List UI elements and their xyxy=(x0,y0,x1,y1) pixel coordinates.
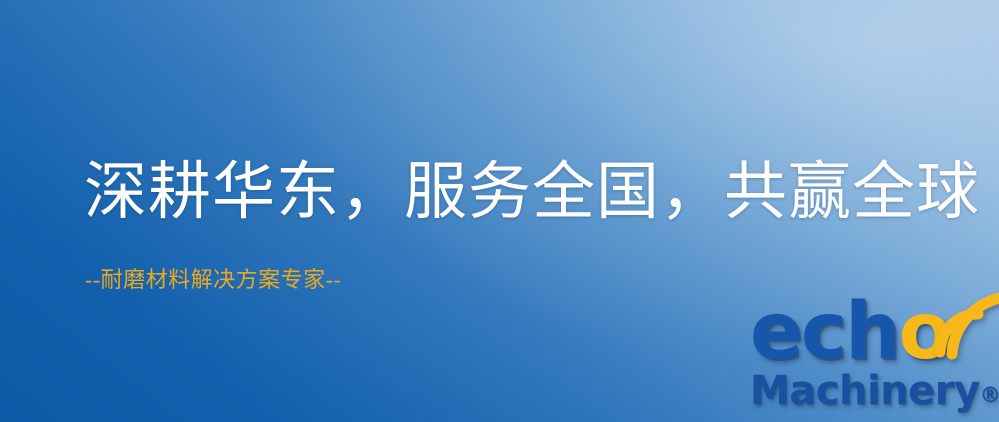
logo-tagline: Machinery® xyxy=(750,366,999,420)
hero-banner: 深耕华东，服务全国，共赢全球 --耐磨材料解决方案专家-- echo Machi… xyxy=(0,0,999,422)
wifi-signal-icon xyxy=(932,290,999,360)
logo-text-ech: ech xyxy=(750,287,899,377)
registered-trademark-icon: ® xyxy=(980,383,999,407)
logo-wordmark-text: echo xyxy=(750,290,950,374)
banner-subtitle: --耐磨材料解决方案专家-- xyxy=(85,266,341,294)
banner-headline: 深耕华东，服务全国，共赢全球 xyxy=(84,154,980,230)
logo-wordmark: echo xyxy=(750,290,966,374)
echo-machinery-logo[interactable]: echo Machinery® xyxy=(742,288,999,422)
logo-tagline-text: Machinery xyxy=(750,368,980,414)
